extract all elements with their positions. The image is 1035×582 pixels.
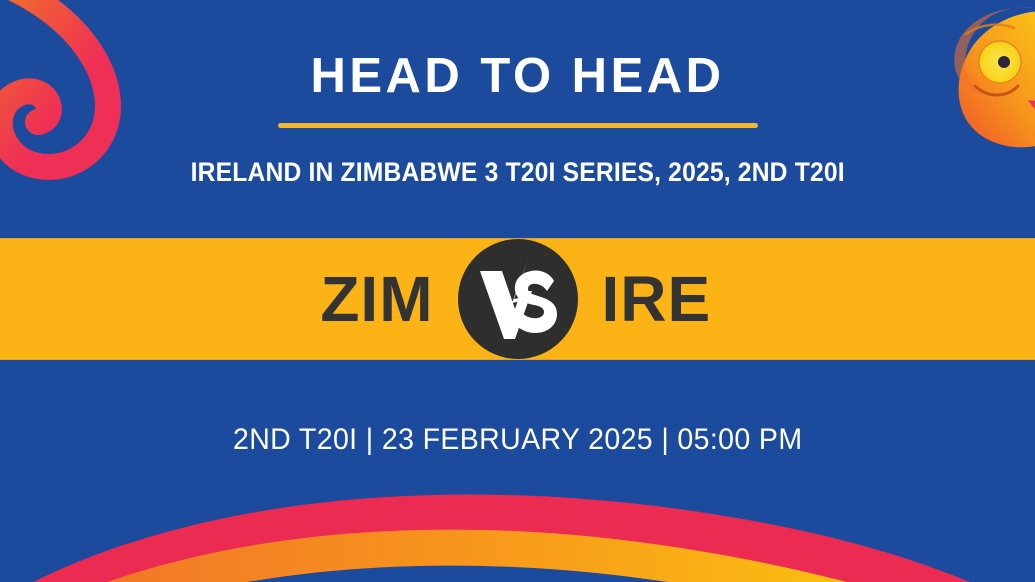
title-underline-divider [278, 123, 758, 128]
match-info-row: 2ND T20I | 23 FEBRUARY 2025 | 05:00 PM [0, 360, 1035, 520]
match-info-text: 2ND T20I | 23 FEBRUARY 2025 | 05:00 PM [233, 423, 802, 457]
page-title: HEAD TO HEAD [310, 52, 724, 101]
versus-badge: VS [458, 239, 578, 359]
team-left-abbreviation: ZIM [224, 267, 458, 331]
poster-header: HEAD TO HEAD IRELAND IN ZIMBABWE 3 T20I … [0, 0, 1035, 238]
team-right-abbreviation: IRE [578, 267, 812, 331]
series-subtitle: IRELAND IN ZIMBABWE 3 T20I SERIES, 2025,… [190, 157, 844, 188]
matchup-row: ZIM VS IRE [0, 238, 1035, 360]
head-to-head-poster: HEAD TO HEAD IRELAND IN ZIMBABWE 3 T20I … [0, 0, 1035, 582]
versus-icon [458, 239, 578, 359]
